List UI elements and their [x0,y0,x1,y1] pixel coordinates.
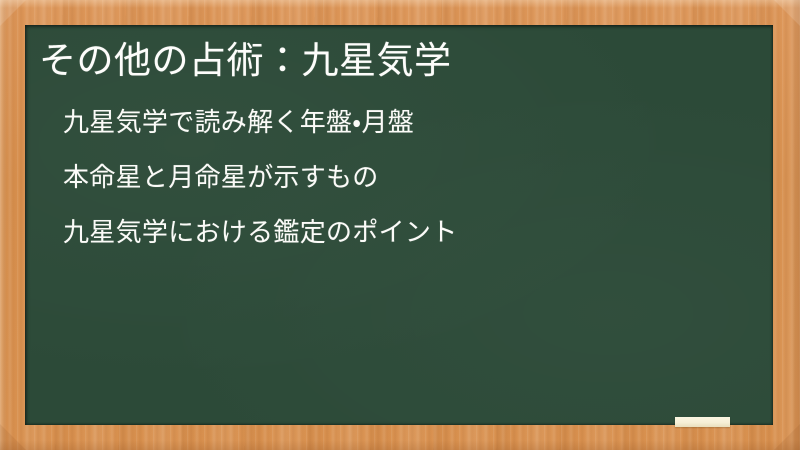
list-item: 九星気学における鑑定のポイント [63,219,458,245]
chalkboard-slide: その他の占術：九星気学 九星気学で読み解く年盤・月盤 本命星と月命星が示すもの … [0,0,800,450]
chalkboard-surface: その他の占術：九星気学 九星気学で読み解く年盤・月盤 本命星と月命星が示すもの … [25,25,773,425]
slide-title: その他の占術：九星気学 [39,38,452,84]
frame-bottom-shadow [0,440,800,450]
frame-left-highlight [0,0,7,450]
list-item: 本命星と月命星が示すもの [63,164,458,190]
list-item: 九星気学で読み解く年盤・月盤 [63,109,458,135]
frame-right-shadow [790,0,800,450]
chalkboard-content: その他の占術：九星気学 九星気学で読み解く年盤・月盤 本命星と月命星が示すもの … [25,25,773,425]
slide-topic-list: 九星気学で読み解く年盤・月盤 本命星と月命星が示すもの 九星気学における鑑定のポ… [63,109,458,245]
frame-top-highlight [0,0,800,8]
